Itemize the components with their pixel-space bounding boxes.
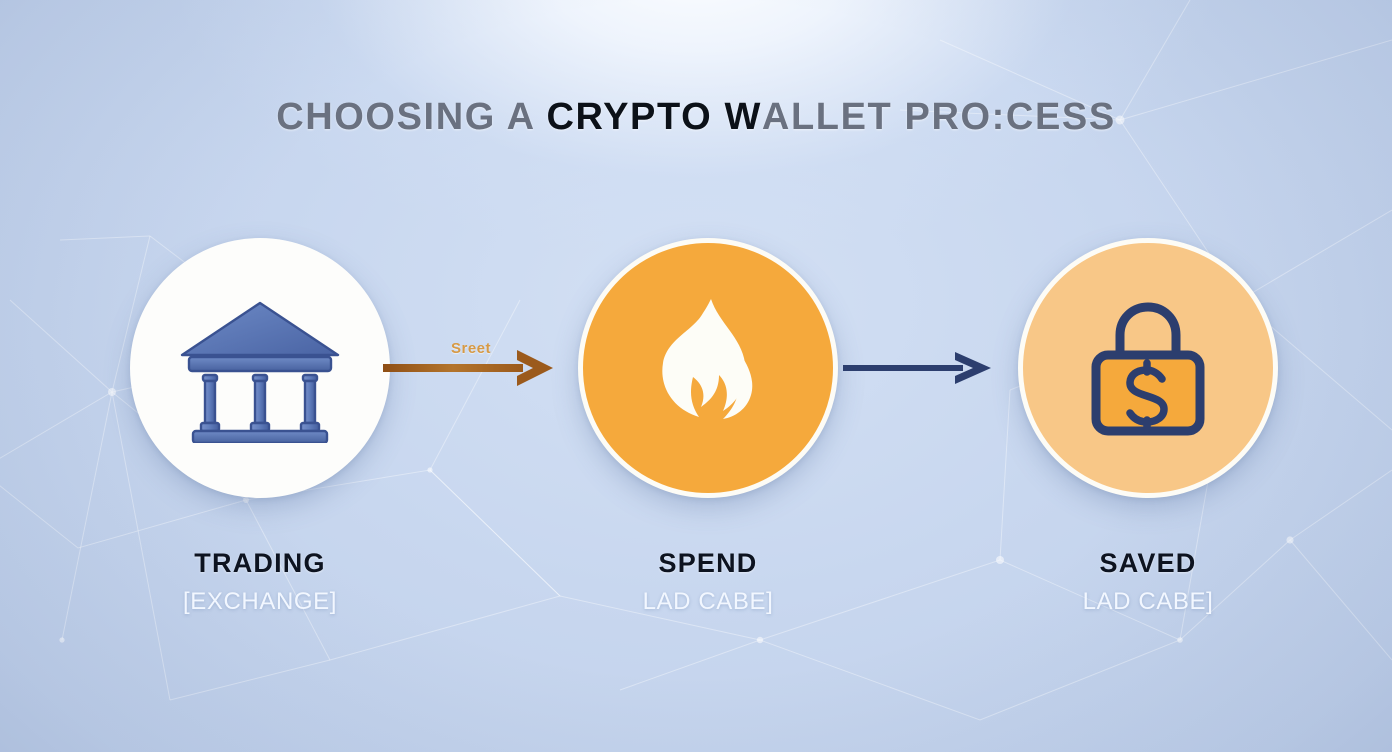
caption-spend-title: SPEND xyxy=(528,548,888,579)
arrow-trading-to-spend-label: Sreet xyxy=(383,340,559,357)
node-trading-circle xyxy=(130,238,390,498)
caption-spend-subtitle: LAD CABE] xyxy=(528,588,888,616)
bank-icon xyxy=(175,293,345,443)
caption-trading-subtitle: [EXCHANGE] xyxy=(80,588,440,616)
title-segment-emphasis: CRYPTO W xyxy=(546,96,761,138)
caption-saved-subtitle: LAD CABE] xyxy=(968,588,1328,616)
title-segment-suffix: ALLET PRO:CESS xyxy=(762,96,1116,138)
caption-spend: SPEND LAD CABE] xyxy=(528,548,888,616)
lock-dollar-icon xyxy=(1080,293,1216,443)
node-saved-circle xyxy=(1018,238,1278,498)
node-saved[interactable] xyxy=(1018,238,1278,498)
caption-trading: TRADING [EXCHANGE] xyxy=(80,548,440,616)
caption-saved-title: SAVED xyxy=(968,548,1328,579)
node-spend[interactable] xyxy=(578,238,838,498)
title-segment-prefix: CHOOSING A xyxy=(276,96,546,138)
node-trading[interactable] xyxy=(130,238,390,498)
arrow-spend-to-saved xyxy=(843,340,995,396)
node-spend-circle xyxy=(578,238,838,498)
page-title: CHOOSING A CRYPTO WALLET PRO:CESS xyxy=(0,96,1392,140)
infographic-canvas: CHOOSING A CRYPTO WALLET PRO:CESS xyxy=(0,0,1392,752)
flame-icon xyxy=(649,297,767,439)
caption-trading-title: TRADING xyxy=(80,548,440,579)
caption-saved: SAVED LAD CABE] xyxy=(968,548,1328,616)
